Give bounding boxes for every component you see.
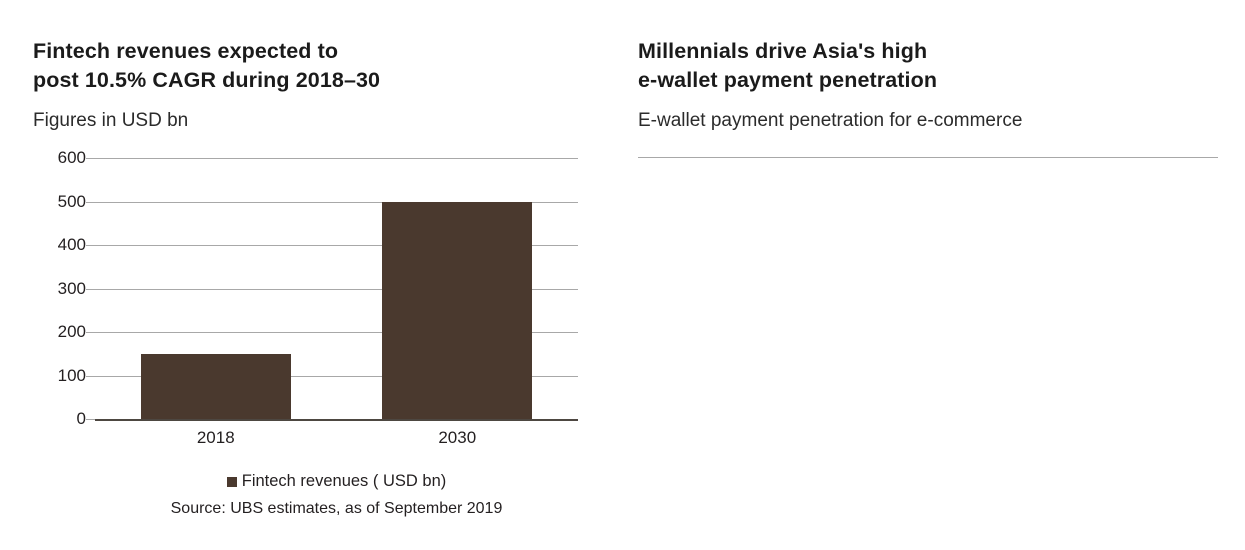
y-axis-tick-label: 500: [58, 192, 95, 212]
left-chart-panel: Fintech revenues expected to post 10.5% …: [0, 0, 620, 550]
source-note: Source: UBS estimates, as of September 2…: [95, 500, 578, 518]
bar: [141, 354, 291, 419]
right-chart-subtitle: E-wallet payment penetration for e-comme…: [638, 110, 1022, 132]
left-plot-area: 0100200300400500600: [95, 158, 578, 419]
y-axis-tick-label: 600: [58, 148, 95, 168]
gridline: [95, 158, 578, 159]
left-chart-subtitle: Figures in USD bn: [33, 110, 188, 132]
header-divider: [638, 157, 1218, 158]
page-title: Millennials drive Asia's high e-wallet p…: [638, 37, 937, 95]
left-category-axis: 20182030: [95, 428, 578, 452]
y-axis-tick-label: 0: [77, 409, 95, 429]
legend-item[interactable]: Fintech revenues ( USD bn): [227, 472, 447, 491]
bar: [382, 202, 532, 420]
legend-label: Fintech revenues ( USD bn): [242, 472, 447, 491]
x-axis-category-label: 2030: [438, 428, 476, 448]
left-chart-legend: Fintech revenues ( USD bn): [95, 472, 578, 491]
y-axis-tick-label: 100: [58, 366, 95, 386]
y-axis-tick-label: 400: [58, 235, 95, 255]
fintech-revenues-chart: 0100200300400500600: [95, 158, 578, 419]
legend-swatch-icon: [227, 477, 237, 487]
infographic-page: Fintech revenues expected to post 10.5% …: [0, 0, 1245, 550]
page-title: Fintech revenues expected to post 10.5% …: [33, 37, 380, 95]
x-axis-category-label: 2018: [197, 428, 235, 448]
y-axis-tick-label: 200: [58, 322, 95, 342]
y-axis-tick-label: 300: [58, 279, 95, 299]
right-chart-panel: Millennials drive Asia's high e-wallet p…: [620, 0, 1245, 550]
x-axis-line: [95, 419, 578, 421]
